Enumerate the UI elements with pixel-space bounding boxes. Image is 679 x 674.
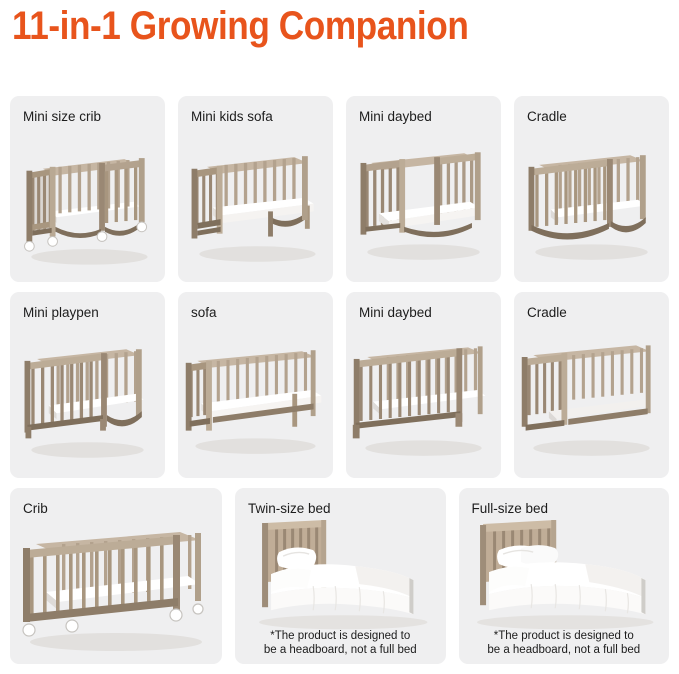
grid-row: Crib [10, 488, 669, 664]
full-size-bed-illustration [459, 518, 669, 638]
footnote-line-2: be a headboard, not a full bed [241, 643, 440, 657]
product-card-mini-daybed[interactable]: Mini daybed [346, 96, 501, 282]
mini-daybed-illustration [346, 130, 501, 277]
product-card-mini-kids-sofa[interactable]: Mini kids sofa [178, 96, 333, 282]
twin-size-bed-illustration [235, 518, 445, 638]
daybed-illustration [346, 326, 501, 473]
product-card-mini-size-crib[interactable]: Mini size crib [10, 96, 165, 282]
product-card-twin-size-bed[interactable]: Twin-size bed [235, 488, 446, 664]
footnote-line-1: *The product is designed to [465, 629, 664, 643]
mini-size-crib-illustration [10, 130, 165, 277]
page-title: 11-in-1 Growing Companion [12, 2, 468, 50]
footnote-line-2: be a headboard, not a full bed [465, 643, 664, 657]
crib-illustration [10, 518, 222, 664]
card-label: Mini kids sofa [191, 109, 273, 125]
card-footnote: *The product is designed to be a headboa… [241, 629, 440, 657]
product-card-full-size-bed[interactable]: Full-size bed [459, 488, 670, 664]
grid-row: Mini playpen [10, 292, 669, 478]
card-label: Crib [23, 501, 48, 517]
mini-playpen-illustration [10, 326, 165, 473]
card-label: Full-size bed [472, 501, 549, 517]
product-card-cradle-large[interactable]: Cradle [514, 292, 669, 478]
footnote-line-1: *The product is designed to [241, 629, 440, 643]
cradle-illustration [514, 130, 669, 277]
card-label: Twin-size bed [248, 501, 331, 517]
sofa-illustration [178, 326, 333, 473]
product-card-cradle[interactable]: Cradle [514, 96, 669, 282]
product-card-sofa[interactable]: sofa [178, 292, 333, 478]
mini-kids-sofa-illustration [178, 130, 333, 277]
grid-row: Mini size crib [10, 96, 669, 282]
product-card-daybed[interactable]: Mini daybed [346, 292, 501, 478]
card-footnote: *The product is designed to be a headboa… [465, 629, 664, 657]
card-label: Mini size crib [23, 109, 101, 125]
card-label: Cradle [527, 109, 567, 125]
card-label: Mini daybed [359, 109, 432, 125]
card-label: Mini playpen [23, 305, 99, 321]
product-configuration-grid: Mini size crib [10, 96, 669, 674]
card-label: sofa [191, 305, 217, 321]
card-label: Mini daybed [359, 305, 432, 321]
product-card-crib[interactable]: Crib [10, 488, 222, 664]
cradle-large-illustration [514, 326, 669, 473]
card-label: Cradle [527, 305, 567, 321]
product-card-mini-playpen[interactable]: Mini playpen [10, 292, 165, 478]
